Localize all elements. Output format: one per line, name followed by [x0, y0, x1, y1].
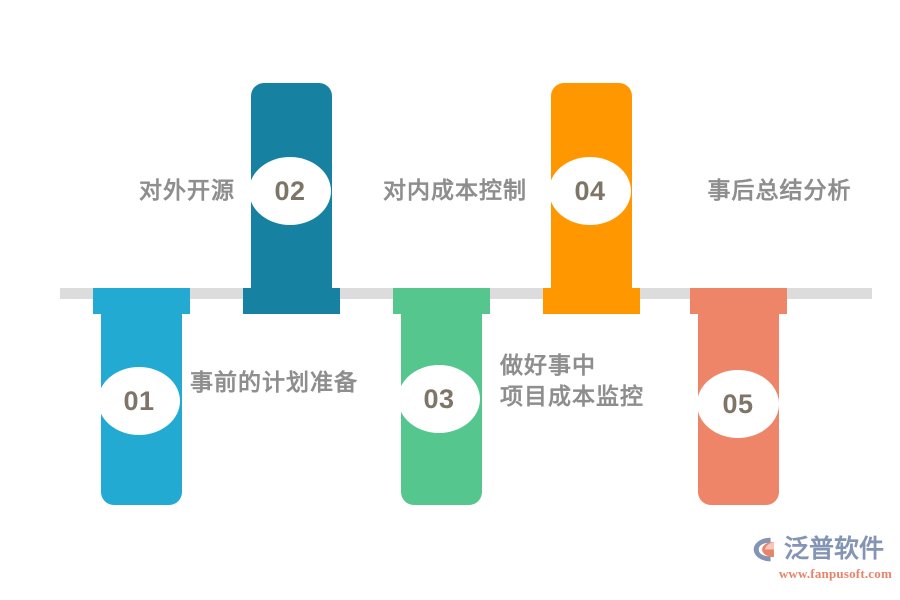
- step-number-03: 03: [423, 384, 454, 415]
- step-number-badge-04[interactable]: 04: [549, 157, 631, 225]
- logo-row: 泛普软件: [752, 536, 892, 563]
- step-number-05: 05: [722, 389, 753, 420]
- logo-wordmark: 泛普软件: [784, 537, 884, 562]
- step-number-02: 02: [274, 176, 305, 207]
- step-number-badge-05[interactable]: 05: [697, 370, 779, 438]
- step-caption-04: 对内成本控制: [315, 175, 527, 206]
- step-number-badge-03[interactable]: 03: [398, 365, 480, 433]
- step-bar-cap-02: [243, 288, 340, 314]
- step-caption-02: 对外开源: [20, 175, 235, 206]
- step-number-04: 04: [574, 176, 605, 207]
- logo-url: www.fanpusoft.com: [752, 566, 892, 582]
- step-caption-05: 事后总结分析: [672, 175, 887, 206]
- infographic-canvas: 01 事前的计划准备 02 对外开源 03 做好事中 项目成本监控 04 对内成…: [0, 0, 900, 600]
- step-number-01: 01: [123, 386, 154, 417]
- step-caption-01: 事前的计划准备: [190, 367, 400, 398]
- fanpu-logo-icon: [752, 536, 779, 563]
- step-caption-03: 做好事中 项目成本监控: [500, 350, 715, 412]
- brand-logo[interactable]: 泛普软件 www.fanpusoft.com: [752, 536, 892, 592]
- step-number-badge-01[interactable]: 01: [98, 367, 180, 435]
- step-bar-cap-04: [543, 288, 640, 314]
